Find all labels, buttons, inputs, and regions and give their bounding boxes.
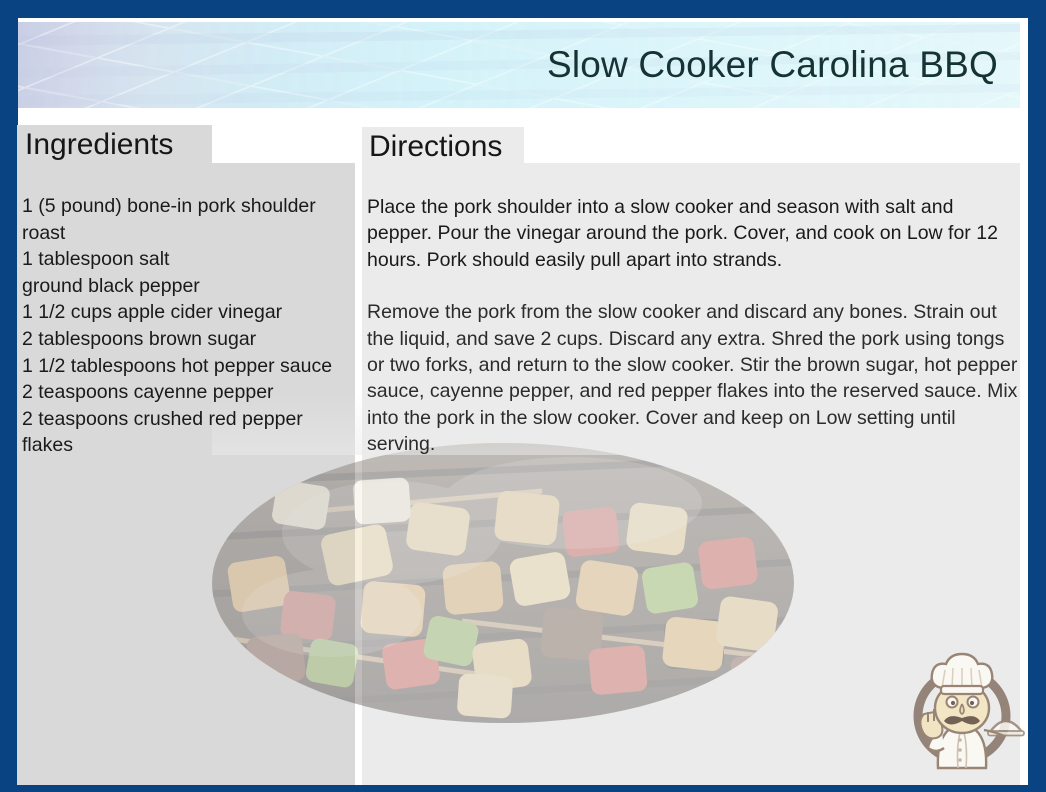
directions-text: Place the pork shoulder into a slow cook… [367, 194, 1019, 484]
title-banner: Slow Cooker Carolina BBQ [18, 22, 1020, 108]
page-title: Slow Cooker Carolina BBQ [547, 44, 998, 86]
ingredients-header: Ingredients [17, 125, 212, 165]
list-item: 2 teaspoons cayenne pepper [22, 379, 352, 406]
list-item: 1 1/2 tablespoons hot pepper sauce [22, 353, 352, 380]
list-item: 2 teaspoons crushed red pepper flakes [22, 406, 352, 459]
ingredients-list: 1 (5 pound) bone-in pork shoulder roast … [22, 193, 352, 459]
recipe-slide: Slow Cooker Carolina BBQ Ingredients Dir… [0, 0, 1046, 792]
direction-paragraph: Remove the pork from the slow cooker and… [367, 299, 1019, 457]
directions-header-label: Directions [369, 132, 502, 162]
direction-paragraph: Place the pork shoulder into a slow cook… [367, 194, 1019, 273]
list-item: 1 tablespoon salt [22, 246, 352, 273]
list-item: 2 tablespoons brown sugar [22, 326, 352, 353]
list-item: ground black pepper [22, 273, 352, 300]
list-item: 1 1/2 cups apple cider vinegar [22, 299, 352, 326]
list-item: 1 (5 pound) bone-in pork shoulder roast [22, 193, 352, 246]
directions-header: Directions [362, 127, 524, 167]
ingredients-header-label: Ingredients [25, 130, 173, 160]
chef-mascot-logo [898, 644, 1026, 772]
